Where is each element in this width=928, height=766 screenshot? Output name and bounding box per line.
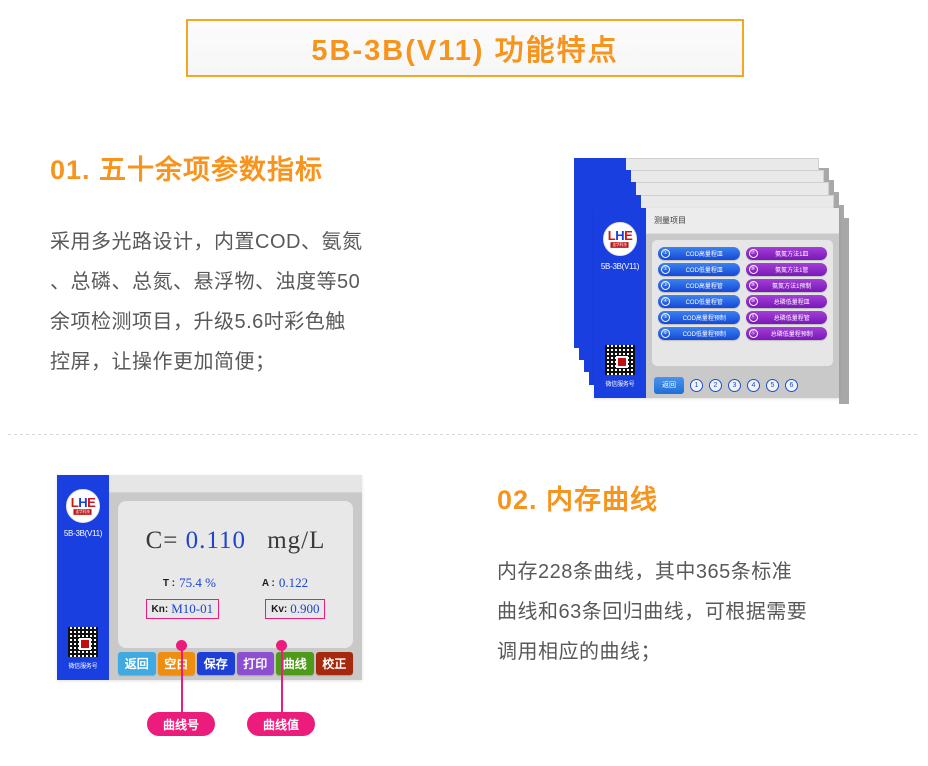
brand-logo-icon: LHE 连华科技 bbox=[603, 222, 637, 256]
page-number-4[interactable]: 4 bbox=[747, 379, 760, 392]
section-2-line-1: 内存228条曲线，其中365条标准 bbox=[497, 552, 917, 592]
device-2-qr-caption: 微信服务号 bbox=[68, 661, 97, 670]
device-2-screen: C= 0.110 mg/L T : 75.4 % A : 0.122 Kn: M… bbox=[109, 475, 362, 680]
device-2-button-保存[interactable]: 保存 bbox=[197, 652, 235, 675]
measurement-item-number: ⑦ bbox=[749, 249, 758, 258]
measurement-item-2[interactable]: ⑦氨氮方法1皿 bbox=[746, 247, 828, 260]
measurement-item-number: ⑪ bbox=[749, 313, 758, 322]
device-2: LHE 连华科技 5B-3B(V11) 微信服务号 C= 0.110 mg/L … bbox=[57, 475, 362, 680]
measurement-item-label: COD高量程管 bbox=[673, 281, 740, 290]
device-2-sidebar: LHE 连华科技 5B-3B(V11) 微信服务号 bbox=[57, 475, 109, 680]
curve-number-value: M10-01 bbox=[171, 601, 213, 617]
annotation-line-curve-value bbox=[281, 645, 283, 712]
device-2-button-返回[interactable]: 返回 bbox=[118, 652, 156, 675]
absorbance-value: 0.122 bbox=[279, 575, 308, 591]
measurement-item-list: ①COD高量程皿⑦氨氮方法1皿②COD低量程皿⑧氨氮方法1管③COD高量程管⑨氨… bbox=[652, 240, 833, 366]
logo-subtext: 连华科技 bbox=[611, 242, 629, 248]
device-2-topbar bbox=[109, 475, 362, 493]
qr-code-icon bbox=[605, 345, 635, 375]
page-number-3[interactable]: 3 bbox=[728, 379, 741, 392]
device-2-button-打印[interactable]: 打印 bbox=[237, 652, 275, 675]
device-1: LHE 连华科技 5B-3B(V11) 微信服务号 测量项目 ①COD高量程皿⑦… bbox=[594, 208, 839, 398]
section-1-heading: 01. 五十余项参数指标 bbox=[50, 148, 323, 187]
annotation-label-curve-number: 曲线号 bbox=[147, 712, 215, 736]
measurement-item-6[interactable]: ⑨氨氮方法1预制 bbox=[746, 279, 828, 292]
measurement-item-label: COD高量程皿 bbox=[673, 249, 740, 258]
measurement-item-7[interactable]: ④COD低量程管 bbox=[658, 295, 740, 308]
readings-row-1: T : 75.4 % A : 0.122 bbox=[118, 575, 353, 591]
section-1-line-3: 余项检测项目，升级5.6吋彩色触 bbox=[50, 302, 480, 342]
annotation-label-curve-value: 曲线值 bbox=[247, 712, 315, 736]
page-number-1[interactable]: 1 bbox=[690, 379, 703, 392]
transmittance-reading: T : 75.4 % bbox=[163, 575, 216, 591]
measurement-item-label: 氨氮方法1预制 bbox=[761, 281, 828, 290]
measurement-item-1[interactable]: ①COD高量程皿 bbox=[658, 247, 740, 260]
page-number-6[interactable]: 6 bbox=[785, 379, 798, 392]
measurement-result-panel: C= 0.110 mg/L T : 75.4 % A : 0.122 Kn: M… bbox=[118, 501, 353, 648]
device-1-back-button[interactable]: 返回 bbox=[654, 377, 684, 394]
measurement-item-label: COD高量程预制 bbox=[673, 313, 740, 322]
section-1-line-1: 采用多光路设计，内置COD、氨氮 bbox=[50, 222, 480, 262]
curve-number-reading: Kn: M10-01 bbox=[146, 599, 220, 619]
measurement-item-label: COD低量程预制 bbox=[673, 329, 740, 338]
measurement-item-number: ④ bbox=[661, 297, 670, 306]
device-1-screen-title: 测量项目 bbox=[646, 208, 839, 234]
measurement-item-4[interactable]: ⑧氨氮方法1管 bbox=[746, 263, 828, 276]
concentration-unit: mg/L bbox=[267, 527, 325, 554]
measurement-item-label: 氨氮方法1皿 bbox=[761, 249, 828, 258]
measurement-item-label: 总磷低量程管 bbox=[761, 313, 828, 322]
measurement-item-number: ⑧ bbox=[749, 265, 758, 274]
section-divider bbox=[8, 434, 920, 435]
measurement-item-8[interactable]: ⑩总磷低量程皿 bbox=[746, 295, 828, 308]
measurement-item-11[interactable]: ⑥COD低量程预制 bbox=[658, 327, 740, 340]
logo-letters: LHE bbox=[608, 230, 633, 241]
device-2-button-校正[interactable]: 校正 bbox=[316, 652, 354, 675]
device-1-footer: 返回 123456 bbox=[646, 372, 839, 398]
section-1-body: 采用多光路设计，内置COD、氨氮 、总磷、总氮、悬浮物、浊度等50 余项检测项目… bbox=[50, 222, 480, 382]
page-number-5[interactable]: 5 bbox=[766, 379, 779, 392]
curve-value-value: 0.900 bbox=[290, 601, 319, 617]
measurement-item-number: ⑫ bbox=[749, 329, 758, 338]
measurement-item-number: ⑥ bbox=[661, 329, 670, 338]
device-1-sidebar: LHE 连华科技 5B-3B(V11) 微信服务号 bbox=[594, 208, 646, 398]
annotation-line-curve-number bbox=[181, 645, 183, 712]
measurement-item-number: ③ bbox=[661, 281, 670, 290]
device-1-model-label: 5B-3B(V11) bbox=[601, 262, 639, 271]
transmittance-label: T : bbox=[163, 578, 175, 589]
measurement-item-label: 总磷低量程预制 bbox=[761, 329, 828, 338]
measurement-item-10[interactable]: ⑪总磷低量程管 bbox=[746, 311, 828, 324]
measurement-item-label: 氨氮方法1管 bbox=[761, 265, 828, 274]
page-title: 5B-3B(V11) 功能特点 bbox=[311, 27, 618, 69]
absorbance-label: A : bbox=[262, 578, 275, 589]
section-2-heading: 02. 内存曲线 bbox=[497, 478, 658, 517]
device-1-screen: 测量项目 ①COD高量程皿⑦氨氮方法1皿②COD低量程皿⑧氨氮方法1管③COD高… bbox=[646, 208, 839, 398]
measurement-item-number: ⑨ bbox=[749, 281, 758, 290]
measurement-item-label: COD低量程皿 bbox=[673, 265, 740, 274]
page-number-group: 123456 bbox=[690, 379, 798, 392]
curve-value-label: Kv: bbox=[271, 604, 287, 615]
qr-code-icon bbox=[68, 627, 98, 657]
measurement-item-3[interactable]: ②COD低量程皿 bbox=[658, 263, 740, 276]
concentration-value: 0.110 bbox=[186, 527, 246, 554]
device-1-qr-caption: 微信服务号 bbox=[605, 379, 634, 388]
concentration-prefix: C= bbox=[146, 527, 179, 554]
section-2-line-3: 调用相应的曲线； bbox=[497, 632, 917, 672]
device-2-model-label: 5B-3B(V11) bbox=[64, 529, 102, 538]
readings-row-2: Kn: M10-01 Kv: 0.900 bbox=[118, 599, 353, 619]
stack-edge-1 bbox=[839, 218, 849, 404]
measurement-item-9[interactable]: ⑤COD高量程预制 bbox=[658, 311, 740, 324]
logo-letters: LHE bbox=[71, 497, 96, 508]
device-2-button-空白[interactable]: 空白 bbox=[158, 652, 196, 675]
brand-logo-icon: LHE 连华科技 bbox=[66, 489, 100, 523]
section-2-body: 内存228条曲线，其中365条标准 曲线和63条回归曲线，可根据需要 调用相应的… bbox=[497, 552, 917, 672]
measurement-item-number: ② bbox=[661, 265, 670, 274]
logo-subtext: 连华科技 bbox=[74, 509, 92, 515]
section-1-line-4: 控屏，让操作更加简便； bbox=[50, 342, 480, 382]
section-2-line-2: 曲线和63条回归曲线，可根据需要 bbox=[497, 592, 917, 632]
measurement-item-label: COD低量程管 bbox=[673, 297, 740, 306]
device-2-button-bar: 返回空白保存打印曲线校正 bbox=[109, 652, 362, 680]
measurement-item-label: 总磷低量程皿 bbox=[761, 297, 828, 306]
page-title-banner: 5B-3B(V11) 功能特点 bbox=[186, 19, 744, 77]
absorbance-reading: A : 0.122 bbox=[262, 575, 308, 591]
measurement-item-number: ⑤ bbox=[661, 313, 670, 322]
section-1-line-2: 、总磷、总氮、悬浮物、浊度等50 bbox=[50, 262, 480, 302]
measurement-item-12[interactable]: ⑫总磷低量程预制 bbox=[746, 327, 828, 340]
measurement-item-5[interactable]: ③COD高量程管 bbox=[658, 279, 740, 292]
device-screen-stack-illustration: LHE 连华科技 5B-3B(V11) 微信服务号 测量项目 ①COD高量程皿⑦… bbox=[574, 150, 914, 400]
curve-number-label: Kn: bbox=[152, 604, 169, 615]
transmittance-value: 75.4 % bbox=[179, 575, 216, 591]
concentration-readout: C= 0.110 mg/L bbox=[118, 527, 353, 555]
page-number-2[interactable]: 2 bbox=[709, 379, 722, 392]
measurement-item-number: ⑩ bbox=[749, 297, 758, 306]
curve-value-reading: Kv: 0.900 bbox=[265, 599, 325, 619]
measurement-item-number: ① bbox=[661, 249, 670, 258]
